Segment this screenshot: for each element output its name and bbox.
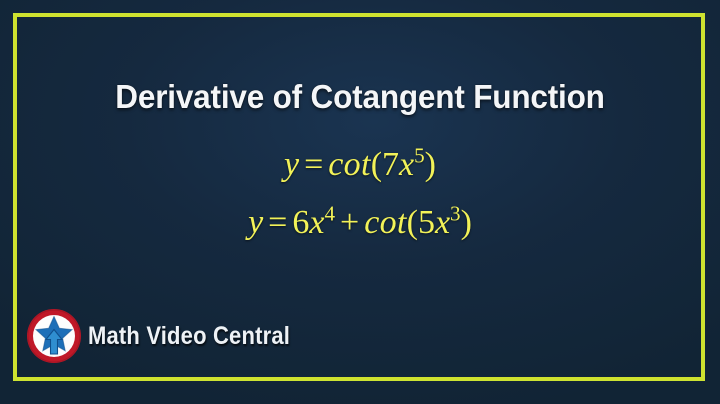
eq1-variable: y [284,146,299,183]
eq2-term2-base: x [435,204,450,241]
eq1-coefficient: 7 [382,146,399,183]
brand-wordmark: Math Video Central [88,322,290,351]
slide-canvas: Derivative of Cotangent Function y=cot(7… [0,0,720,404]
eq2-term1-coefficient: 6 [292,204,309,241]
eq1-equals: = [299,146,328,183]
page-title: Derivative of Cotangent Function [16,78,704,116]
eq2-term1-base: x [309,204,324,241]
eq1-function: cot [328,146,370,183]
eq2-close-paren: ) [461,204,472,241]
eq2-variable: y [248,204,263,241]
star-arrow-badge-icon [26,308,82,364]
eq2-term1-exponent: 4 [324,202,335,226]
eq2-open-paren: ( [407,204,418,241]
equation-list: y=cot(7x5) y=6x4+cot(5x3) [0,148,720,240]
equation-1: y=cot(7x5) [0,148,720,182]
eq1-close-paren: ) [425,146,436,183]
eq2-term2-coefficient: 5 [418,204,435,241]
eq1-base: x [399,146,414,183]
eq2-function: cot [364,204,406,241]
eq2-equals: = [263,204,292,241]
eq1-open-paren: ( [371,146,382,183]
eq2-term2-exponent: 3 [450,202,461,226]
eq2-plus: + [335,204,364,241]
branding: Math Video Central [26,308,318,364]
eq1-exponent: 5 [414,144,425,168]
equation-2: y=6x4+cot(5x3) [0,206,720,240]
